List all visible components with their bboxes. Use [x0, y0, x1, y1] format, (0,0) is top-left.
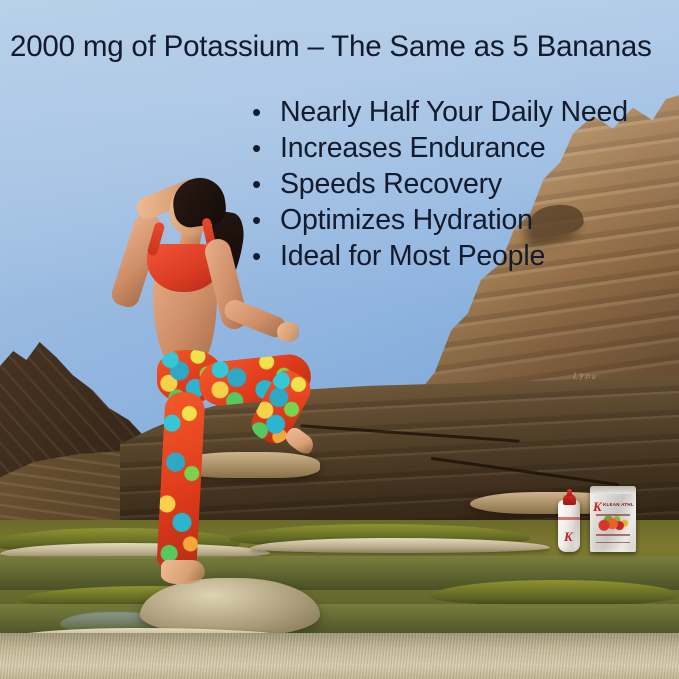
pouch-brand-wordmark: KLEAN ATHLETE	[603, 502, 634, 511]
product-group: K KLEAN ATHLETE K	[556, 486, 640, 566]
product-pouch: K KLEAN ATHLETE	[590, 486, 636, 552]
list-item-label: Optimizes Hydration	[280, 202, 533, 238]
pouch-rule-mid	[596, 534, 630, 536]
pouch-seal	[590, 486, 636, 494]
bullet-dot-icon: •	[252, 238, 280, 274]
sports-bottle: K	[558, 500, 580, 552]
list-item: • Optimizes Hydration	[252, 202, 628, 238]
bottle-collar	[558, 517, 580, 520]
bullet-dot-icon: •	[252, 94, 280, 130]
list-item-label: Ideal for Most People	[280, 238, 545, 274]
sand-grain-texture	[0, 633, 679, 679]
leggings-standing-leg	[156, 391, 205, 569]
bullet-dot-icon: •	[252, 202, 280, 238]
bullet-dot-icon: •	[252, 166, 280, 202]
pouch-fruit-graphic	[597, 516, 629, 531]
list-item-label: Increases Endurance	[280, 130, 546, 166]
list-item: • Increases Endurance	[252, 130, 628, 166]
sand-foreground	[0, 633, 679, 679]
list-item: • Ideal for Most People	[252, 238, 628, 274]
moss-ridge-4	[430, 580, 679, 606]
pouch-rule-bottom	[596, 542, 630, 543]
list-item: • Speeds Recovery	[252, 166, 628, 202]
foot-standing	[161, 560, 205, 584]
bottle-k-logo: K	[564, 530, 573, 543]
benefit-list: • Nearly Half Your Daily Need • Increase…	[252, 94, 628, 274]
list-item: • Nearly Half Your Daily Need	[252, 94, 628, 130]
headline: 2000 mg of Potassium – The Same as 5 Ban…	[10, 30, 652, 64]
list-item-label: Speeds Recovery	[280, 166, 502, 202]
promo-image: LYPK IXHU 16	[0, 0, 679, 679]
bullet-dot-icon: •	[252, 130, 280, 166]
list-item-label: Nearly Half Your Daily Need	[280, 94, 628, 130]
hand-right	[277, 322, 299, 342]
bottle-nozzle	[567, 489, 572, 496]
